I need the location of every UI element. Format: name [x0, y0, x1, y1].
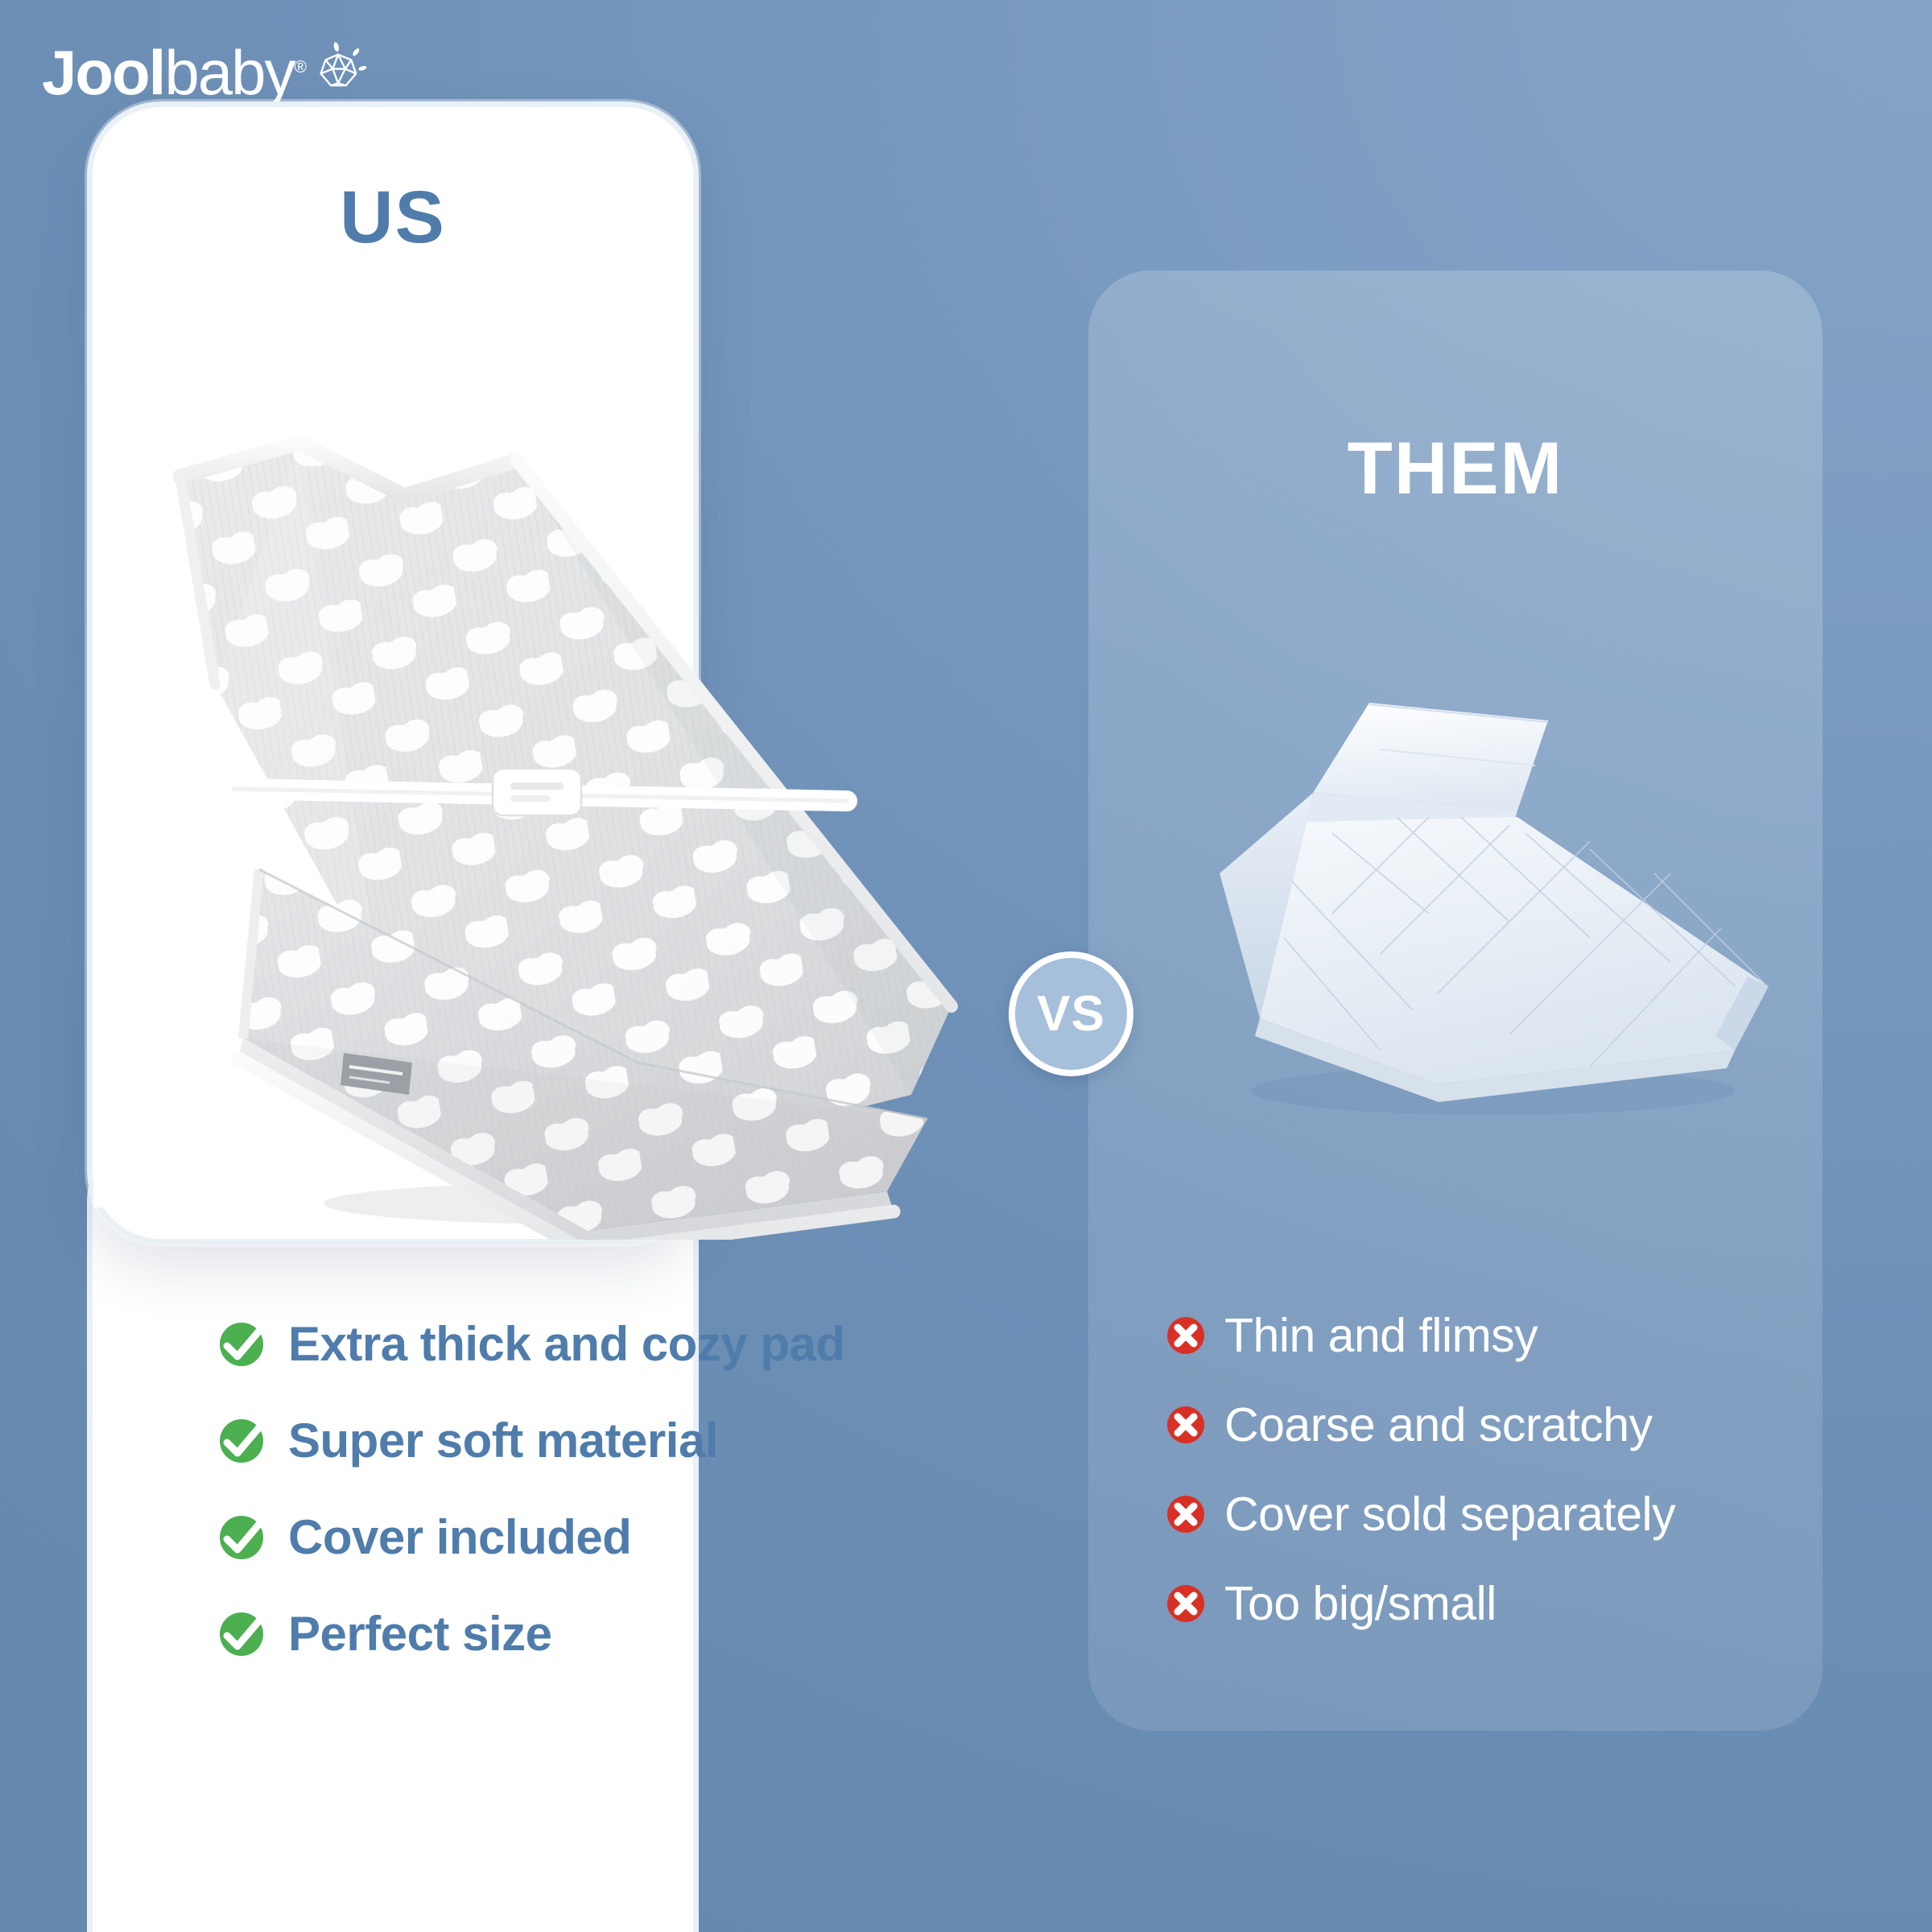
- list-item-label: Extra thick and cozy pad: [288, 1316, 845, 1372]
- vs-badge: VS: [1009, 952, 1133, 1076]
- list-item-label: Thin and flimsy: [1224, 1308, 1538, 1363]
- them-product-image: [1171, 672, 1815, 1139]
- list-item-label: Perfect size: [288, 1606, 552, 1662]
- list-item-label: Cover included: [288, 1509, 631, 1565]
- them-heading: THEM: [1088, 427, 1823, 511]
- vs-label: VS: [1037, 985, 1105, 1042]
- brand-logo: Joolbaby®: [42, 34, 368, 111]
- x-circle-icon: [1166, 1494, 1206, 1534]
- list-item: Cover sold separately: [1166, 1487, 1834, 1542]
- x-circle-icon: [1166, 1315, 1206, 1356]
- brand-logo-text: Joolbaby®: [42, 41, 305, 104]
- us-product-image: [138, 419, 968, 1240]
- list-item: Super soft material: [216, 1413, 989, 1468]
- list-item: Coarse and scratchy: [1166, 1397, 1834, 1452]
- list-item-label: Too big/small: [1224, 1576, 1496, 1631]
- x-circle-icon: [1166, 1583, 1206, 1624]
- brand-name-bold: Jool: [42, 37, 164, 108]
- list-item: Perfect size: [216, 1606, 989, 1662]
- check-circle-icon: [216, 1608, 267, 1660]
- list-item: Extra thick and cozy pad: [216, 1316, 989, 1372]
- us-heading: US: [87, 175, 699, 260]
- list-item-label: Super soft material: [288, 1413, 718, 1468]
- us-feature-list: Extra thick and cozy pad Super soft mate…: [216, 1316, 989, 1703]
- them-feature-list: Thin and flimsy Coarse and scratchy Cove…: [1166, 1308, 1834, 1666]
- strap-buckle: [493, 769, 581, 815]
- x-circle-icon: [1166, 1405, 1206, 1445]
- list-item: Too big/small: [1166, 1576, 1834, 1631]
- list-item-label: Coarse and scratchy: [1224, 1397, 1653, 1452]
- brand-name-light: baby: [164, 37, 294, 108]
- check-circle-icon: [216, 1415, 267, 1467]
- comparison-graphic: Joolbaby® THEM: [0, 0, 1932, 1932]
- check-circle-icon: [216, 1319, 267, 1370]
- gem-diamond-icon: [308, 40, 368, 100]
- list-item: Cover included: [216, 1509, 989, 1565]
- check-circle-icon: [216, 1512, 267, 1563]
- registered-mark: ®: [294, 58, 304, 76]
- list-item: Thin and flimsy: [1166, 1308, 1834, 1363]
- list-item-label: Cover sold separately: [1224, 1487, 1675, 1542]
